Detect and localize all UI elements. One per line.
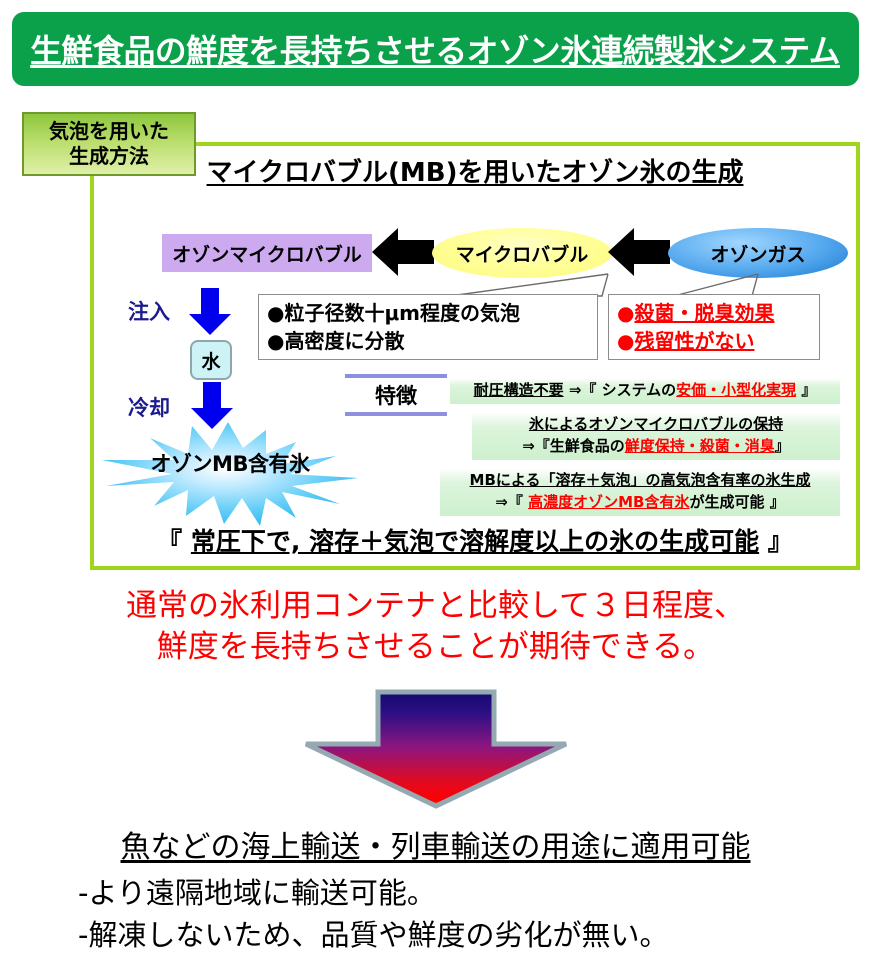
feature-2-line2-pre: ⇒『生鮮食品の [522,437,625,455]
callout-ozone-effects-line2: ●残留性がない [617,327,811,355]
section-label-bubble-method: 気泡を用いた 生成方法 [22,112,196,176]
feature-3-line2-post: が生成可能 』 [689,493,784,511]
flow-node-microbubble: マイクロバブル [432,228,612,278]
diagram-summary-text: 常圧下で, 溶存＋気泡で溶解度以上の氷の生成可能 [191,527,759,556]
feature-item-2: 氷によるオゾンマイクロバブルの保持 ⇒『生鮮食品の鮮度保持・殺菌・消臭』 [472,412,840,460]
flow-arrow-left-2 [608,226,670,278]
process-arrow-down-1 [188,288,232,336]
diagram-heading: マイクロバブル(MB)を用いたオゾン氷の生成 [90,152,860,189]
features-label: 特徴 [345,374,447,416]
conclusion-list-item: -より遠隔地域に輸送可能。 [78,872,858,914]
large-down-arrow-icon [300,688,572,810]
feature-1-seg3: 安価・小型化実現 [676,381,796,399]
conclusion-list-item: -解凍しないため、品質や鮮度の劣化が無い。 [78,914,858,956]
feature-1-seg2: ⇒『 システムの [564,381,677,399]
feature-2-line2: ⇒『生鮮食品の鮮度保持・殺菌・消臭』 [478,436,834,458]
bullet-icon: ● [617,301,634,325]
feature-1-seg4: 』 [796,381,816,399]
flow-node-microbubble-label: マイクロバブル [456,240,589,267]
benefit-note-line2: 鮮度を長持ちさせることが期待できる。 [40,627,831,668]
process-label-cool: 冷却 [128,392,170,422]
benefit-note-line1: 通常の氷利用コンテナと比較して３日程度、 [40,586,831,627]
bullet-icon: ● [617,329,634,353]
page-title: 生鮮食品の鮮度を長持ちさせるオゾン氷連続製氷システム [31,26,841,72]
flow-node-ozone-microbubble: オゾンマイクロバブル [162,234,372,272]
feature-2-line1: 氷によるオゾンマイクロバブルの保持 [478,414,834,436]
feature-1-seg1: 耐圧構造不要 [474,381,564,399]
conclusion-list: -より遠隔地域に輸送可能。 -解凍しないため、品質や鮮度の劣化が無い。 [78,872,858,956]
flow-node-ozone-gas-label: オゾンガス [710,240,805,267]
section-label-line1: 気泡を用いた [49,119,169,144]
process-node-water-label: 水 [201,347,220,374]
diagram-summary-close: 』 [759,527,793,556]
feature-2-line2-emphasis: 鮮度保持・殺菌・消臭 [625,437,775,455]
callout-bubble-properties-line2: ●高密度に分散 [267,327,589,355]
diagram-summary-open: 『 [157,527,191,556]
feature-item-3: MBによる「溶存＋気泡」の高気泡含有率の氷生成 ⇒『 高濃度オゾンMB含有氷が生… [440,468,840,516]
callout-bubble-properties-line1: ●粒子径数十μm程度の気泡 [267,299,589,327]
flow-node-ozone-gas: オゾンガス [668,228,848,278]
feature-2-line2-post: 』 [775,437,790,455]
page-title-banner: 生鮮食品の鮮度を長持ちさせるオゾン氷連続製氷システム [12,12,859,86]
feature-3-line2-emphasis: 高濃度オゾンMB含有氷 [528,493,689,511]
feature-3-line1: MBによる「溶存＋気泡」の高気泡含有率の氷生成 [446,470,834,492]
callout-ozone-effects-line1: ●殺菌・脱臭効果 [617,299,811,327]
flow-node-ozone-microbubble-label: オゾンマイクロバブル [172,240,362,267]
process-node-ozone-ice-label: オゾンMB含有氷 [100,448,360,478]
process-node-water: 水 [190,340,232,380]
flow-arrow-left-1 [372,226,434,278]
diagram-summary: 『 常圧下で, 溶存＋気泡で溶解度以上の氷の生成可能 』 [96,522,854,558]
feature-3-line2: ⇒『 高濃度オゾンMB含有氷が生成可能 』 [446,492,834,514]
feature-3-line2-pre: ⇒『 [495,493,528,511]
process-label-inject: 注入 [128,296,170,326]
callout-bubble-properties: ●粒子径数十μm程度の気泡 ●高密度に分散 [258,294,598,360]
conclusion-heading: 魚などの海上輸送・列車輸送の用途に適用可能 [20,822,851,866]
feature-item-1: 耐圧構造不要 ⇒『 システムの安価・小型化実現 』 [450,378,840,404]
callout-ozone-effects: ●殺菌・脱臭効果 ●残留性がない [608,294,820,360]
section-label-line2: 生成方法 [69,144,149,169]
benefit-note: 通常の氷利用コンテナと比較して３日程度、 鮮度を長持ちさせることが期待できる。 [40,586,831,668]
